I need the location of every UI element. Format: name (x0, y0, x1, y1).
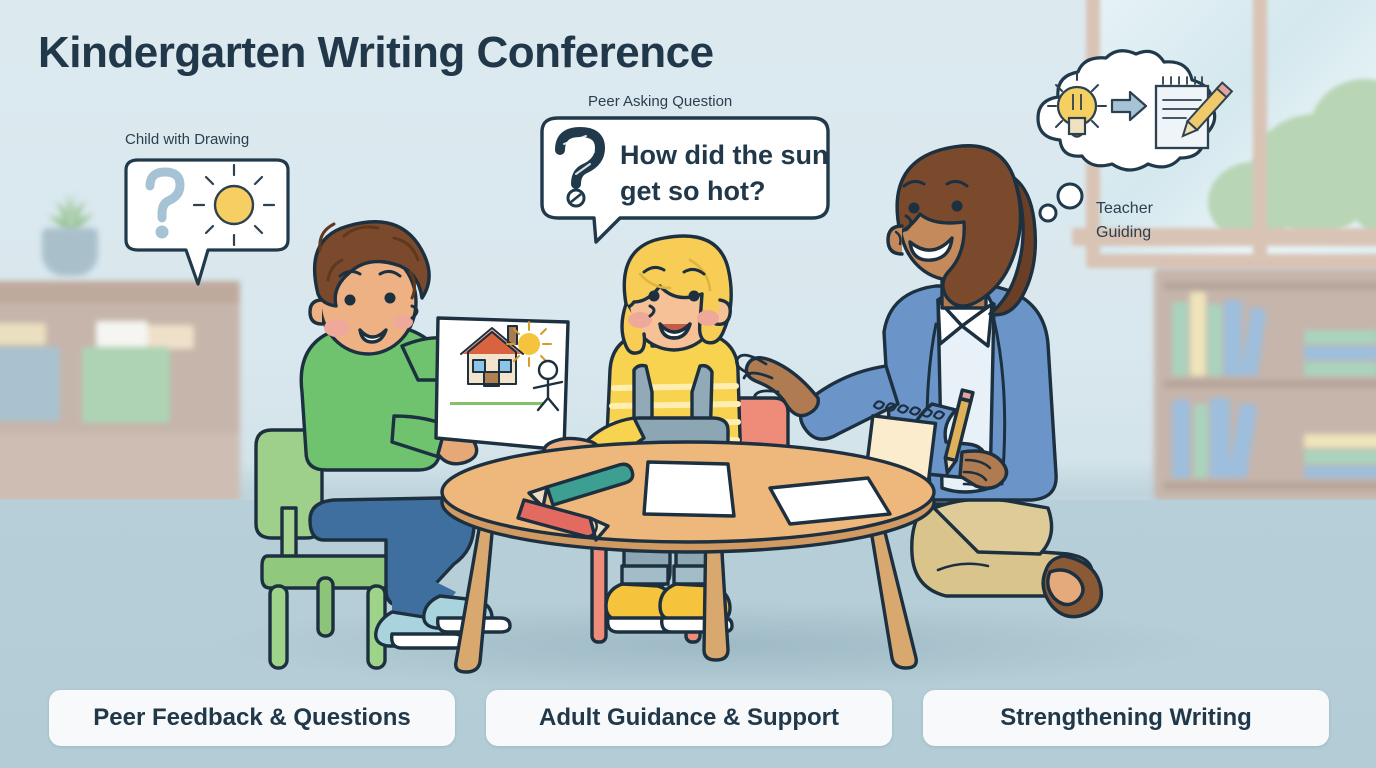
paper-sheet-1 (644, 462, 734, 516)
label-peer-feedback[interactable]: Peer Feedback & Questions (49, 690, 455, 746)
label-strengthening-writing[interactable]: Strengthening Writing (923, 690, 1329, 746)
label-adult-guidance[interactable]: Adult Guidance & Support (486, 690, 892, 746)
label-strengthening-writing-text: Strengthening Writing (1000, 704, 1252, 732)
bottom-label-row: Peer Feedback & Questions Adult Guidance… (0, 690, 1376, 746)
illustration-canvas: Kindergarten Writing Conference Child wi… (0, 0, 1376, 768)
label-adult-guidance-text: Adult Guidance & Support (539, 704, 839, 732)
paper-sheet-2 (770, 478, 890, 524)
label-peer-feedback-text: Peer Feedback & Questions (93, 704, 410, 732)
childs-drawing (436, 318, 568, 450)
scene-figures (0, 0, 1376, 768)
